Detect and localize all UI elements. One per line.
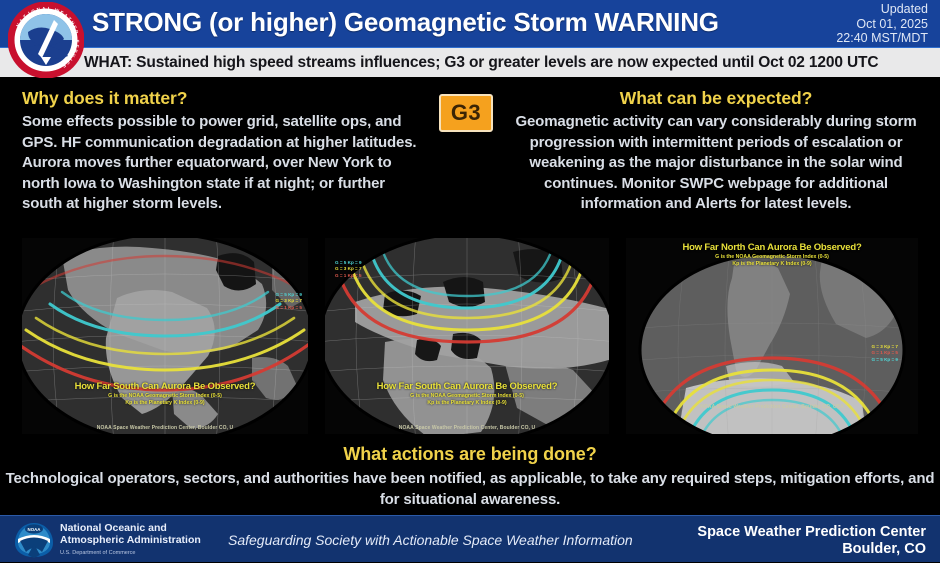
map-1-caption-sub1: G is the NOAA Geomagnetic Storm Index (0… [22,393,308,399]
updated-timestamp: Updated Oct 01, 2025 22:40 MST/MDT [836,2,928,46]
map-2-caption-sub1: G is the NOAA Geomagnetic Storm Index (0… [325,393,609,399]
swpc-location: Boulder, CO [697,541,926,558]
alert-header: STRONG (or higher) Geomagnetic Storm WAR… [0,0,940,47]
map-3-credit: NOAA Space Weather Prediction Center, Bo… [626,404,918,410]
aurora-map-europe-asia: G = 5 Kp = 9 G = 3 Kp = 7 G = 1 Kp = 5 H… [325,238,609,434]
why-matters-panel: Why does it matter? Some effects possibl… [22,88,422,215]
noaa-name-line-1: National Oceanic and [60,522,167,534]
actions-heading: What actions are being done? [0,444,940,465]
updated-time: 22:40 MST/MDT [836,31,928,46]
map-1-legend-item: G = 1 Kp = 5 [275,305,302,311]
map-1-legend: G = 5 Kp = 9 G = 3 Kp = 7 G = 1 Kp = 5 [275,292,302,311]
page-title: STRONG (or higher) Geomagnetic Storm WAR… [92,7,719,38]
svg-text:NOAA: NOAA [28,527,42,532]
map-3-legend-item: G = 5 Kp = 9 [871,357,898,363]
map-1-caption-title: How Far South Can Aurora Be Observed? [22,381,308,392]
updated-date: Oct 01, 2025 [836,17,928,32]
nws-logo-icon: N A T I O N A L W E A T H E R S E R V I … [8,2,84,78]
map-2-credit: NOAA Space Weather Prediction Center, Bo… [325,425,609,431]
map-3-legend: G = 3 Kp = 7 G = 1 Kp = 5 G = 5 Kp = 9 [871,344,898,363]
alert-footer: NOAA National Oceanic and Atmospheric Ad… [0,515,940,562]
what-summary-text: WHAT: Sustained high speed streams influ… [84,54,878,72]
swpc-name: Space Weather Prediction Center [697,524,926,541]
svg-text:S: S [75,39,80,42]
actions-panel: What actions are being done? Technologic… [0,444,940,510]
swpc-attribution: Space Weather Prediction Center Boulder,… [697,524,926,558]
map-3-caption-sub1: G is the NOAA Geomagnetic Storm Index (0… [626,254,918,260]
actions-body: Technological operators, sectors, and au… [0,468,940,510]
what-expected-body: Geomagnetic activity can vary considerab… [506,112,926,215]
footer-tagline: Safeguarding Society with Actionable Spa… [228,532,633,548]
noaa-name-line-2: Atmospheric Administration [60,534,201,546]
map-3-legend-item: G = 1 Kp = 5 [871,350,898,356]
map-2-legend: G = 5 Kp = 9 G = 3 Kp = 7 G = 1 Kp = 5 [335,260,362,279]
updated-label: Updated [836,2,928,17]
why-matters-heading: Why does it matter? [22,88,422,109]
map-3-caption-title: How Far North Can Aurora Be Observed? [626,242,918,253]
map-2-caption-sub2: Kp is the Planetary K Index (0-9) [325,400,609,406]
map-1-credit: NOAA Space Weather Prediction Center, Bo… [22,425,308,431]
map-1-legend-item: G = 3 Kp = 7 [275,298,302,304]
map-1-caption-sub2: Kp is the Planetary K Index (0-9) [22,400,308,406]
map-3-caption-sub2: Kp is the Planetary K Index (0-9) [626,261,918,267]
map-2-legend-item: G = 1 Kp = 5 [335,273,362,279]
aurora-map-southern-hemisphere: G = 3 Kp = 7 G = 1 Kp = 5 G = 5 Kp = 9 H… [626,238,918,434]
what-summary-band: WHAT: Sustained high speed streams influ… [0,47,940,77]
storm-level-badge: G3 [439,94,493,132]
map-2-caption: How Far South Can Aurora Be Observed? G … [325,381,609,406]
what-expected-panel: What can be expected? Geomagnetic activi… [506,88,926,215]
noaa-logo-icon: NOAA [14,522,54,558]
what-expected-heading: What can be expected? [506,88,926,109]
why-matters-body: Some effects possible to power grid, sat… [22,112,422,215]
map-2-caption-title: How Far South Can Aurora Be Observed? [325,381,609,392]
map-2-legend-item: G = 3 Kp = 7 [335,266,362,272]
map-1-caption: How Far South Can Aurora Be Observed? G … [22,381,308,406]
noaa-department: U.S. Department of Commerce [60,548,201,560]
aurora-map-row: G = 5 Kp = 9 G = 3 Kp = 7 G = 1 Kp = 5 H… [0,238,940,434]
aurora-map-north-america: G = 5 Kp = 9 G = 3 Kp = 7 G = 1 Kp = 5 H… [22,238,308,434]
noaa-agency-name: National Oceanic and Atmospheric Adminis… [60,523,201,560]
map-3-caption: How Far North Can Aurora Be Observed? G … [626,242,918,267]
